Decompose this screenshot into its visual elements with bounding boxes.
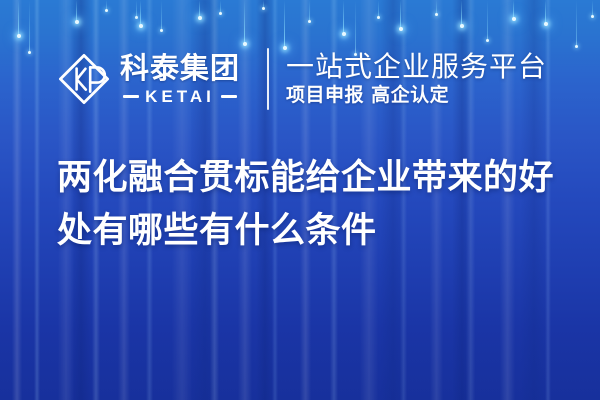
article-header-banner: 科泰集团 KETAI 一站式企业服务平台 项目申报 高企认定 两化融合贯标能给企… — [0, 0, 600, 400]
page-title-line-1: 两化融合贯标能给企业带来的好 — [57, 152, 563, 205]
logo-dash-right — [221, 95, 237, 98]
banner-header-row: 科泰集团 KETAI 一站式企业服务平台 项目申报 高企认定 — [0, 42, 600, 116]
ketai-logo[interactable]: 科泰集团 KETAI — [57, 52, 240, 106]
logo-wordmark: 科泰集团 KETAI — [120, 54, 240, 105]
logo-company-name-en: KETAI — [145, 88, 215, 105]
tagline-block: 一站式企业服务平台 项目申报 高企认定 — [286, 51, 547, 107]
logo-en-row: KETAI — [120, 88, 240, 105]
tagline-sub-text: 项目申报 高企认定 — [286, 85, 547, 107]
page-title-line-2: 处有哪些有什么条件 — [57, 205, 563, 258]
logo-company-name-cn: 科泰集团 — [120, 54, 240, 83]
kp-diamond-icon — [57, 52, 111, 106]
vertical-divider — [267, 48, 269, 110]
logo-dash-left — [123, 95, 139, 98]
tagline-main-text: 一站式企业服务平台 — [286, 51, 547, 82]
page-title: 两化融合贯标能给企业带来的好 处有哪些有什么条件 — [57, 152, 563, 258]
